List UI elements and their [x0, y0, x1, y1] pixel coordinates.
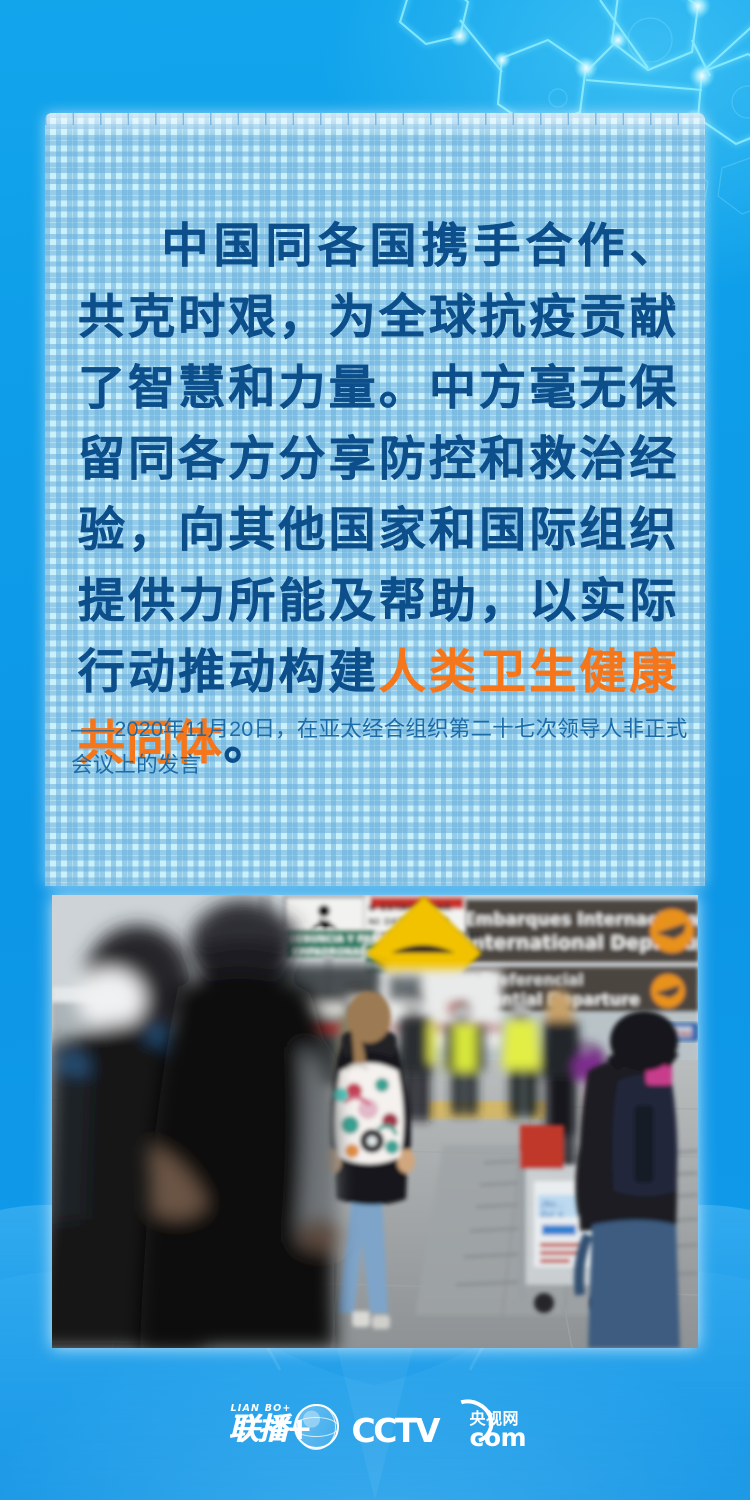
lianbo-logo[interactable]: LIAN BO+ 联播+	[229, 1403, 339, 1451]
lianbo-chinese: 联播+	[229, 1414, 311, 1446]
cctv-domain: com	[470, 1423, 527, 1452]
footer-logos: LIAN BO+ 联播+ CCTV 央视网 com	[0, 1398, 750, 1456]
news-photo: Embarques Internacionales International …	[52, 895, 698, 1348]
cctv-wordmark: CCTV	[352, 1411, 439, 1450]
quote-text: 中国同各国携手合作、共克时艰，为全球抗疫贡献了智慧和力量。中方毫无保留同各方分享…	[78, 211, 678, 779]
poster-root: 中国同各国携手合作、共克时艰，为全球抗疫贡献了智慧和力量。中方毫无保留同各方分享…	[0, 0, 750, 1500]
quote-attribution: ——2020年11月20日，在亚太经合组织第二十七次领导人非正式会议上的发言	[71, 711, 691, 783]
card-ruler-ticks	[45, 113, 705, 125]
cctv-logo[interactable]: CCTV 央视网 com	[352, 1403, 522, 1451]
quote-card: 中国同各国携手合作、共克时艰，为全球抗疫贡献了智慧和力量。中方毫无保留同各方分享…	[45, 113, 705, 886]
cctv-wordmark-group: CCTV 央视网 com	[352, 1403, 522, 1451]
svg-text:¡No...: ¡No...	[540, 1200, 564, 1210]
svg-text:dur e: dur e	[540, 1210, 564, 1220]
